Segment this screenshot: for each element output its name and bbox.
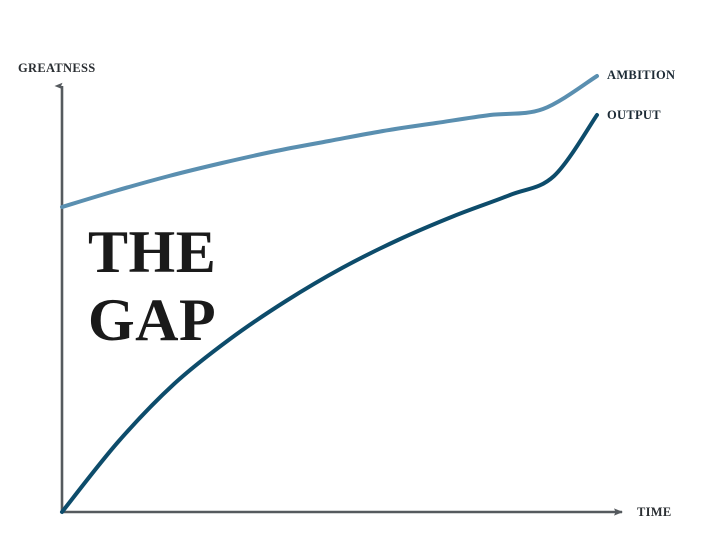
series-label-ambition: AMBITION <box>607 69 675 82</box>
y-axis-label: GREATNESS <box>18 62 96 75</box>
chart-canvas: GREATNESS TIME AMBITION OUTPUT THE GAP <box>0 0 718 554</box>
series-label-output: OUTPUT <box>607 109 661 122</box>
ambition-curve <box>62 76 597 207</box>
the-gap-line-1: THE <box>88 218 216 286</box>
the-gap-line-2: GAP <box>88 286 216 354</box>
the-gap-annotation: THE GAP <box>88 218 216 354</box>
x-axis-label: TIME <box>637 506 672 519</box>
